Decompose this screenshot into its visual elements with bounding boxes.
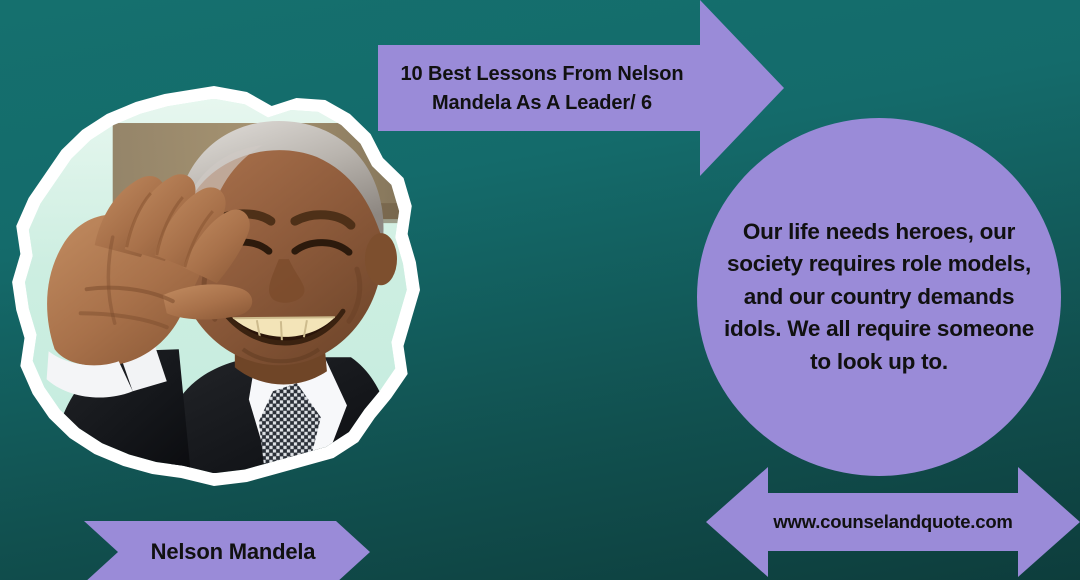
title-text: 10 Best Lessons From Nelson Mandela As A… xyxy=(386,45,698,132)
website-arrow-banner[interactable]: www.counselandquote.com xyxy=(706,464,1080,580)
portrait-illustration xyxy=(21,99,407,473)
website-url-text[interactable]: www.counselandquote.com xyxy=(768,464,1018,580)
attribution-name-text: Nelson Mandela xyxy=(84,521,370,580)
attribution-ribbon: Nelson Mandela xyxy=(84,521,370,580)
quote-circle: Our life needs heroes, our society requi… xyxy=(697,118,1061,476)
portrait-white-frame xyxy=(8,86,420,486)
quote-text: Our life needs heroes, our society requi… xyxy=(723,216,1035,378)
quote-card-canvas: 10 Best Lessons From Nelson Mandela As A… xyxy=(0,0,1080,580)
portrait-blob xyxy=(8,86,420,486)
title-arrow-banner: 10 Best Lessons From Nelson Mandela As A… xyxy=(378,0,784,176)
portrait-photo xyxy=(21,99,407,473)
